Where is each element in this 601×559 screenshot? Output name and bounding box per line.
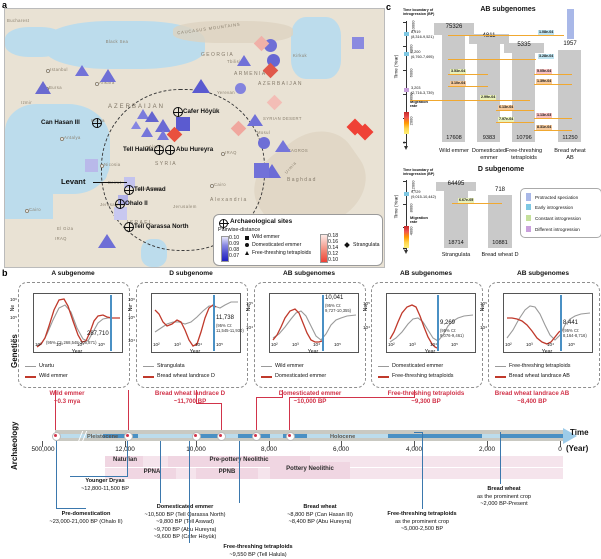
timeline-dot-2 — [194, 434, 197, 437]
chart-legend-swatch-3-0 — [378, 366, 389, 367]
chart-card-4[interactable]: Ne 10⁵ 10⁴ 10² 10³ 10⁴ 10⁵ Year 8,441 (9… — [488, 282, 600, 388]
time-tick-label-1: 12,000 — [97, 446, 153, 453]
map-label-armenia: ARMENIA — [234, 71, 267, 77]
chart-xtick-2-2: 10⁴ — [313, 342, 320, 347]
site-marker-abu-hureyra[interactable] — [165, 145, 175, 155]
chart-legend-label-2-1: Domesticated emmer — [275, 373, 326, 379]
site-marker-tell-qarassa-north[interactable] — [124, 222, 134, 232]
sample-triangle — [275, 140, 291, 152]
legend-diamond-icon — [344, 242, 350, 248]
sample-triangle — [131, 121, 141, 129]
demographic-model-panel: AB subgenomes Time boundary of introgres… — [386, 4, 601, 266]
legend-item-domesticated-emmer: Domesticated emmer — [252, 242, 301, 248]
chart-xlabel-0: Year — [33, 349, 121, 355]
timeline-dot-4 — [254, 434, 257, 437]
map-legend: Archaeological sites Pairwise-distance 0… — [213, 214, 383, 266]
ab-migration-arrow-6 — [448, 59, 536, 60]
map-label-iran: Baghdad — [287, 177, 317, 183]
chart-ytick-4-0: 10⁵ — [480, 301, 487, 306]
d-axis-header: Time boundary of introgression (BP) — [403, 168, 434, 177]
site-label-ohalo-ii: Ohalo II — [125, 200, 148, 207]
sample-triangle — [75, 65, 89, 76]
chart-xtick-4-0: 10² — [505, 342, 512, 347]
chart-estimate-3: 9,269 — [440, 320, 455, 326]
map-label-syria: SYRIA — [155, 161, 177, 167]
note-3-line-0: ~9,550 BP (Tell Halula) — [229, 552, 286, 558]
chart-ytick-1-1: 10⁵ — [128, 315, 135, 320]
note-leader-4a — [239, 441, 240, 503]
d-ytick-1: 8000 — [408, 204, 413, 213]
ab-migration-arrow-0 — [448, 74, 488, 75]
callout-3-line2: ~9,300 BP — [411, 398, 440, 405]
site-label-cafer-hoyuk: Cafer Höyük — [183, 108, 219, 115]
timeline-dot-3 — [219, 434, 222, 437]
ab-boundary-ci-0: (8,316-9,521) — [411, 35, 434, 40]
note-6-line-1: ~2,000 BP-Present — [480, 501, 527, 507]
time-tick-label-4: 6,000 — [315, 446, 367, 453]
chart-xtick-4-2: 10⁴ — [547, 342, 554, 347]
legend-blue-ramp — [221, 236, 229, 262]
chart-estimate-4: 8,441 — [563, 320, 578, 326]
time-axis-unit: (Year) — [566, 444, 588, 453]
site-label-tell-halula: Tell Halula — [123, 146, 154, 153]
d-ytick-mark-0 — [403, 181, 406, 182]
timeline-dot-1 — [126, 434, 129, 437]
ab-pop-2-column — [512, 53, 535, 142]
note-leader-0b — [56, 508, 86, 509]
note-leader-5a — [422, 432, 423, 509]
ab-migration-label-8: 1.39e-04 — [536, 79, 552, 84]
time-axis-title: Time — [570, 428, 589, 437]
callout-4-line1: Bread wheat landrace AB — [495, 390, 569, 397]
chart-legend-swatch-4-1 — [495, 376, 506, 378]
map-label-azerbaijan: AZERBAIJAN — [258, 81, 303, 87]
note-1-line-0: ~12,800-11,500 BP — [81, 486, 129, 492]
note-5-line-0: as the prominent crop — [395, 519, 449, 525]
chart-legend-swatch-3-1 — [378, 376, 389, 378]
map-label-syrian-desert: Jerusalem — [173, 204, 197, 209]
ab-boundary-ci-1: (6,760-7,695) — [411, 55, 434, 60]
d-pop-0-ancestral-size: 64495 — [436, 181, 476, 187]
note-5: Free-threshing tetraploids as the promin… — [360, 511, 484, 534]
note-leader-6a — [500, 432, 501, 484]
site-marker-tell-halula[interactable] — [154, 145, 164, 155]
note-6-title: Bread wheat — [487, 486, 520, 492]
culture-label-ppna: PPNA — [128, 469, 176, 475]
legend-label-different: Different introgression — [535, 227, 580, 232]
note-4-line-1: ~8,400 BP (Abu Hureyra) — [289, 519, 352, 525]
ab-axis-arrow — [404, 146, 408, 150]
ab-migration-label-1: 3.10e-04 — [450, 81, 466, 86]
legend-swatch-early — [526, 204, 531, 210]
ab-pop-2-current-size: 10796 — [504, 135, 544, 141]
callout-1-line1: Bread wheat landrace D — [155, 390, 225, 397]
chart-xlabel-1: Year — [151, 349, 239, 355]
sample-square — [352, 37, 364, 49]
culture-label-pottery: Pottery Neolithic — [270, 466, 350, 472]
city-label-baghdad: Cairo — [214, 182, 226, 187]
note-5-title: Free-threshing tetraploids — [387, 511, 456, 517]
chart-legend-label-4-1: Bread wheat landrace AB — [509, 373, 570, 379]
note-leader-5b — [414, 432, 423, 433]
city-label-urmia: Mosul — [257, 130, 270, 135]
chart-legend-swatch-1-1 — [143, 376, 154, 378]
ab-ytick-mark-0 — [403, 22, 406, 23]
ab-ytick-2: 6000 — [408, 69, 413, 78]
ab-pop-2-name: Free-threshing tetraploids — [500, 148, 548, 161]
ab-ytick-5: 0 — [402, 142, 407, 144]
chart-ytick-0-0: 10⁶ — [10, 297, 17, 302]
chart-legend-swatch-0-0 — [25, 366, 36, 367]
chart-ytick-2-0: 10⁵ — [246, 301, 253, 306]
legend-swatch-different — [526, 226, 531, 232]
legend-label-constant: Constant introgression — [535, 216, 581, 221]
chart-ytick-3-0: 10⁵ — [363, 301, 370, 306]
ab-ytick-mark-2 — [403, 70, 406, 71]
city-label-izmir: Izmir — [21, 100, 32, 105]
sample-circle — [258, 137, 270, 149]
sample-triangle — [237, 55, 251, 66]
site-label-abu-hureyra: Abu Hureyra — [176, 146, 213, 153]
site-label-can-hasan-iii: Can Hasan III — [41, 119, 80, 126]
note-2-line-1: ~9,800 BP (Tell Aswad) — [156, 519, 214, 525]
site-marker-ohalo-ii[interactable] — [115, 199, 125, 209]
ab-migration-arrow-3 — [496, 110, 534, 111]
map-panel[interactable]: AZERBAIJAN GEORGIA ARMENIA AZERBAIJAN Al… — [4, 8, 385, 268]
ab-migration-arrow-7 — [534, 74, 572, 75]
city-label-antalya: Antalya — [64, 135, 81, 140]
note-2: Domesticated emmer ~10,500 BP (Tell Qara… — [112, 504, 258, 542]
ab-migration-arrow-8 — [534, 84, 572, 85]
chart-ylabel-0: Ne — [10, 305, 16, 311]
city-label-mosul: IRAQ — [225, 150, 237, 155]
callout-4-line2: ~8,400 BP — [517, 398, 546, 405]
legend-label-protracted: Protracted speciation — [535, 195, 578, 200]
note-2-line-3: ~9,600 BP (Cafer Höyük) — [154, 534, 217, 540]
ab-migration-rate-ramp — [404, 112, 409, 134]
legend-red-ramp — [320, 234, 328, 263]
ab-pop-0-current-size: 17608 — [434, 135, 474, 141]
time-segment-5 — [388, 434, 482, 438]
levant-label: Levant — [61, 177, 85, 186]
note-2-line-0: ~10,500 BP (Tell Qarassa North) — [145, 512, 226, 518]
d-migration-rate-label: Migration rate — [410, 216, 428, 225]
city-label-tabriz: SYRIAN DESERT — [263, 116, 302, 121]
chart-xtick-1-3: 10⁵ — [216, 342, 223, 347]
note-1: Younger Dryas ~12,800-11,500 BP — [50, 478, 160, 493]
chart-xtick-2-3: 10⁵ — [334, 342, 341, 347]
ab-migration-label-6: 3.28e-04 — [538, 54, 554, 59]
chart-title-0: A subgenome — [18, 270, 128, 277]
sample-triangle — [98, 234, 116, 248]
site-marker-can-hasan-iii[interactable] — [92, 118, 102, 128]
ab-migration-label-9: 1.13e-03 — [536, 113, 552, 118]
note-2-title: Domesticated emmer — [157, 504, 214, 510]
ab-boundary-ci-2: (2,716-3,739) — [411, 91, 434, 96]
divergence-line-3 — [437, 295, 439, 351]
callout-line-4c — [289, 397, 290, 433]
callout-0-line2: ~0.3 mya — [54, 398, 80, 405]
chart-card-3[interactable]: Ne 10⁵ 10⁴ 10² 10³ 10⁴ 10⁵ Year 9,269 (9… — [371, 282, 483, 388]
ab-migration-arrow-2 — [410, 100, 530, 101]
model-legend: Protracted speciation Early introgressio… — [520, 188, 601, 238]
chart-legend-label-3-1: Free-threshing tetraploids — [392, 373, 453, 379]
callout-2-line1: Domesticated emmer — [279, 390, 342, 397]
divergence-line-1 — [213, 295, 215, 351]
chart-xtick-0-3: 10⁵ — [98, 342, 105, 347]
chart-xlabel-4: Year — [503, 349, 591, 355]
time-tick-label-3: 8,000 — [243, 446, 295, 453]
map-label-georgia: GEORGIA — [201, 52, 234, 58]
ab-migration-label-10: 8.31e-04 — [536, 125, 552, 130]
timeline-dot-5 — [288, 434, 291, 437]
note-4-title: Bread wheat — [303, 504, 336, 510]
chart-ytick-3-1: 10⁴ — [363, 325, 370, 330]
timeline-dot-0 — [54, 434, 57, 437]
ab-boundary-swatch-1 — [404, 52, 409, 56]
d-pop-1-current-size: 10881 — [482, 240, 518, 246]
chart-card-2[interactable]: Ne 10⁵ 10⁴ 10² 10³ 10⁴ 10⁵ Year 10,041 (… — [254, 282, 366, 388]
ab-migration-label-7: 5.05e-04 — [536, 69, 552, 74]
site-marker-cafer-hoyuk[interactable] — [173, 107, 183, 117]
callout-0: Wild emmer ~0.3 mya — [22, 390, 112, 406]
legend-title: Archaeological sites — [230, 218, 292, 225]
sample-square — [85, 159, 98, 172]
ab-pop-1-ancestral-size: 4811 — [469, 33, 509, 39]
note-leader-1b — [70, 476, 128, 477]
note-5-line-1: ~5,000-2,500 BP — [401, 526, 443, 532]
d-pop-0-current-size: 18714 — [436, 240, 476, 246]
d-migration-label-0: 6.67e-05 — [458, 198, 474, 203]
chart-xtick-2-1: 10³ — [292, 342, 299, 347]
time-tick-label-0: 500,000 — [14, 446, 72, 453]
chart-legend-label-0-0: Urartu — [39, 363, 54, 369]
caspian-sea — [291, 17, 341, 79]
chart-estimate-1: 11,738 — [216, 315, 234, 321]
legend-blue-007: 0.07 — [229, 253, 239, 259]
ab-migration-rate-label: Migration rate — [410, 100, 428, 109]
chart-legend-label-1-1: Bread wheat landrace D — [157, 373, 215, 379]
chart-xtick-1-2: 10⁴ — [195, 342, 202, 347]
legend-square-icon — [245, 236, 249, 240]
chart-xtick-1-0: 10² — [153, 342, 160, 347]
callout-3-line1: Free-threshing tetraploids — [388, 390, 465, 397]
divergence-line-2 — [322, 295, 324, 351]
d-ytick-2: 4000 — [408, 227, 413, 236]
ab-ytick-4: 2000 — [408, 117, 413, 126]
ab-model-title: AB subgenomes — [438, 6, 578, 13]
callout-line-2c — [221, 403, 222, 433]
d-ylabel: Time (Year) — [393, 195, 398, 219]
sample-triangle — [192, 79, 210, 93]
sample-square — [176, 117, 190, 131]
legend-item-wild-emmer: Wild emmer — [252, 234, 280, 240]
chart-legend-swatch-2-0 — [261, 366, 272, 367]
note-1-title: Younger Dryas — [85, 478, 124, 484]
callout-line-1 — [128, 390, 129, 433]
ab-migration-label-3: 6.13e-04 — [498, 105, 514, 110]
d-pop-1-ancestral-size: 718 — [482, 187, 518, 193]
chart-card-1[interactable]: Ne 10⁶ 10⁵ 10⁴ 10² 10³ 10⁴ 10⁵ Year 11,7… — [136, 282, 248, 388]
ab-pop-1-current-size: 9383 — [469, 135, 509, 141]
chart-ytick-0-1: 10⁵ — [10, 315, 17, 320]
levant-leader-line — [93, 182, 127, 183]
d-pop-0-name: Strangulata — [432, 252, 480, 259]
chart-title-4: AB subgenomes — [488, 270, 598, 277]
chart-xtick-2-0: 10² — [271, 342, 278, 347]
chart-legend-swatch-2-1 — [261, 376, 272, 378]
ab-migration-arrow-10 — [534, 130, 572, 131]
legend-swatch-protracted — [526, 193, 531, 201]
note-leader-3a — [189, 441, 190, 543]
chart-xtick-3-3: 10⁵ — [451, 342, 458, 347]
chart-title-1: D subgenome — [136, 270, 246, 277]
time-tick-label-6: 2,000 — [461, 446, 513, 453]
ab-pop-3-ancestral-size: 1957 — [550, 41, 590, 47]
callout-line-3b — [256, 397, 283, 398]
chart-legend-swatch-0-1 — [25, 376, 36, 378]
legend-circle-icon — [245, 243, 249, 247]
map-label-caspian-sea: Kirkuk — [293, 53, 307, 58]
chart-title-3: AB subgenomes — [371, 270, 481, 277]
callout-line-2b — [196, 403, 222, 404]
ab-pop-3-column — [558, 50, 581, 142]
callout-line-3a — [282, 390, 283, 397]
note-6: Bread wheat as the prominent crop ~2,000… — [445, 486, 563, 509]
chart-xtick-1-1: 10³ — [174, 342, 181, 347]
city-label-nicosia: Nicosia — [104, 162, 121, 167]
chart-legend-swatch-4-0 — [495, 366, 506, 367]
city-label-kirkuk: ZAGROS — [288, 148, 308, 153]
ab-migration-label-0: 3.53e-04 — [450, 69, 466, 74]
chart-estimate-0: 287,710 — [87, 331, 109, 337]
chart-estimate-2: 10,041 — [325, 295, 343, 301]
ab-pop-0-column — [442, 35, 465, 142]
city-label-yerevan: Yerevan — [217, 90, 235, 95]
d-migration-arrow-0 — [452, 203, 502, 204]
site-marker-tell-aswad[interactable] — [124, 185, 134, 195]
callout-line-2a — [196, 390, 197, 403]
d-model-title: D subgenome — [446, 166, 556, 173]
legend-triangle-icon — [245, 251, 249, 255]
chart-ylabel-1: Ne — [128, 305, 134, 311]
chart-xtick-4-3: 10⁵ — [568, 342, 575, 347]
city-label-bucharest: Bucharest — [7, 18, 29, 23]
note-0-title: Pre-domestication — [62, 511, 111, 517]
ab-pop-0-ancestral-size: 75326 — [434, 24, 474, 30]
legend-swatch-constant — [526, 215, 531, 221]
sample-triangle — [100, 69, 116, 82]
d-axis-arrow — [404, 250, 408, 254]
city-label-elgiza: IRAQ — [55, 236, 67, 241]
chart-card-0[interactable]: Ne 10⁶ 10⁵ 10⁴ 10² 10³ 10⁴ 10⁵ Year 287,… — [18, 282, 130, 388]
site-label-tell-qarassa-north: Tell Qarassa North — [134, 223, 189, 230]
sample-triangle — [141, 127, 153, 137]
chart-xtick-3-2: 10⁴ — [430, 342, 437, 347]
ab-migration-arrow-1 — [448, 86, 488, 87]
ab-pop-3-current-size: 11250 — [550, 135, 590, 141]
ab-migration-arrow-4 — [496, 122, 534, 123]
chart-ci-4: (95% CI: 8,164-8,716) — [563, 329, 587, 339]
ab-pop-3-name: Bread wheat AB — [546, 148, 594, 161]
time-tick-label-5: 4,000 — [388, 446, 440, 453]
chart-ytick-1-2: 10⁴ — [128, 338, 135, 343]
chart-ytick-4-1: 10⁴ — [480, 325, 487, 330]
note-3: Free-threshing tetraploids ~9,550 BP (Te… — [180, 544, 336, 559]
ab-migration-label-2: 2.99e-04 — [480, 95, 496, 100]
ab-pop-3-protracted-bar — [567, 9, 574, 39]
city-label-alexandria: Cairo — [29, 207, 41, 212]
chart-xtick-3-0: 10² — [388, 342, 395, 347]
note-leader-1a — [127, 441, 128, 476]
city-label-istanbul: Istanbul — [50, 67, 68, 72]
epoch-label-pleistocene: Pleistocene — [87, 434, 118, 440]
note-3-title: Free-threshing tetraploids — [223, 544, 292, 550]
time-segment-6 — [500, 434, 563, 438]
site-label-tell-aswad: Tell Aswad — [134, 186, 166, 193]
divergence-line-4 — [560, 295, 562, 351]
chart-xlabel-2: Year — [269, 349, 357, 355]
d-pop-1-name: Bread wheat D — [476, 252, 524, 259]
callout-line-0 — [55, 390, 56, 433]
legend-red-010: 0.10 — [328, 257, 338, 263]
chart-ci-0: (95% CI: 268,548-306,871) — [46, 341, 97, 346]
note-6-line-0: as the prominent crop — [477, 494, 531, 500]
city-label-cairo: El Giza — [57, 226, 73, 231]
sea-nw — [5, 27, 65, 57]
chart-legend-label-3-0: Domesticated emmer — [392, 363, 443, 369]
chart-legend-label-0-1: Wild emmer — [39, 373, 68, 379]
divergence-line-0 — [110, 295, 112, 351]
chart-xtick-0-0: 10² — [35, 342, 42, 347]
chart-title-2: AB subgenomes — [254, 270, 364, 277]
callout-line-4a — [414, 390, 415, 397]
chart-legend-label-2-0: Wild emmer — [275, 363, 304, 369]
chart-ytick-2-1: 10⁴ — [246, 325, 253, 330]
callout-line-4b — [289, 397, 415, 398]
callout-1: Bread wheat landrace D ~11,700 BP — [128, 390, 252, 406]
map-label-black-sea: Black Sea — [102, 39, 132, 44]
callout-4: Bread wheat landrace AB ~8,400 BP — [468, 390, 596, 406]
sample-square — [254, 163, 269, 178]
chart-ci-2: (95% CI: 9,727-10,355) — [325, 304, 351, 314]
ab-pop-2-ancestral-size: 5335 — [504, 42, 544, 48]
map-label-iraq: Alexandria — [210, 197, 248, 203]
chart-ytick-0-2: 10⁴ — [10, 338, 17, 343]
d-ytick-mark-1 — [403, 204, 406, 205]
epoch-label-holocene: Holocene — [330, 434, 355, 440]
ab-ylabel: Time (Year) — [393, 55, 398, 79]
time-tick-label-2: 10,000 — [168, 446, 224, 453]
legend-subtitle: Pairwise-distance — [218, 227, 260, 233]
chart-ytick-1-0: 10⁶ — [128, 297, 135, 302]
note-leader-0a — [56, 441, 57, 508]
genetics-panel: Genetics A subgenome Ne 10⁶ 10⁵ 10⁴ 10² … — [0, 268, 601, 408]
chart-legend-label-1-0: Strangulata — [157, 363, 185, 369]
culture-label-natufian: Natufian — [99, 457, 151, 463]
d-boundary-ci-0: (9,015-10,442) — [411, 195, 436, 200]
d-boundary-swatch-0 — [404, 192, 409, 196]
ab-migration-label-5: 1.08e-04 — [538, 30, 554, 35]
chart-legend-label-4-0: Free-threshing tetraploids — [509, 363, 570, 369]
ab-boundary-swatch-0 — [404, 32, 409, 36]
note-4-line-0: ~8,800 BP (Can Hasan III) — [287, 512, 353, 518]
legend-label-early: Early introgression — [535, 205, 573, 210]
ab-migration-label-4: 7.97e-04 — [498, 117, 514, 122]
d-migration-rate-ramp — [404, 226, 409, 248]
note-leader-2a — [160, 441, 161, 503]
chart-xlabel-3: Year — [386, 349, 474, 355]
